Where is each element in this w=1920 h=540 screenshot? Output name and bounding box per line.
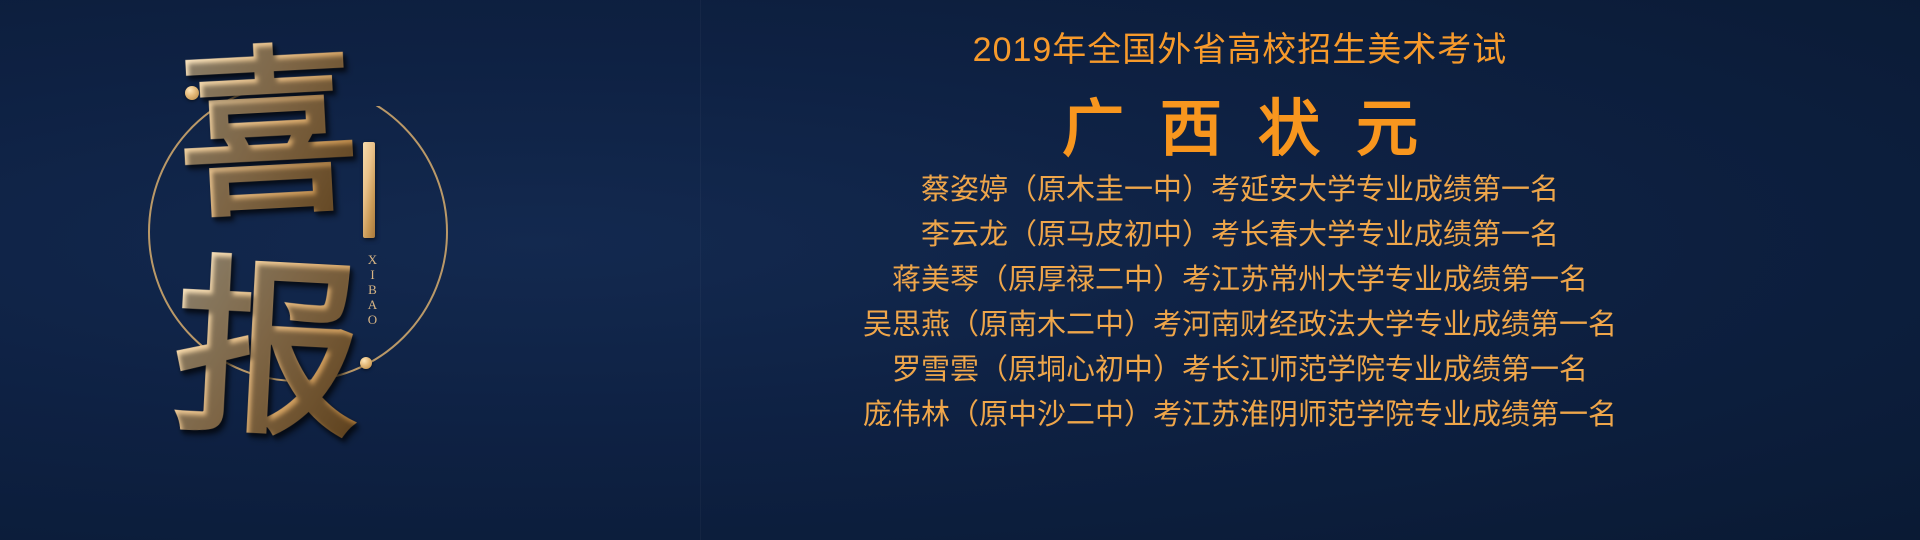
entry-result: 考延安大学专业成绩第一名: [1211, 174, 1559, 206]
entry-result: 考长春大学专业成绩第一名: [1211, 219, 1559, 251]
entry-origin-school: （原南木二中）: [950, 309, 1153, 341]
entry-origin-school: （原木圭一中）: [1008, 174, 1211, 206]
xibao-logo: XIBAO 喜 报: [120, 20, 540, 520]
entry-origin-school: （原垌心初中）: [979, 354, 1182, 386]
banner-headline: 广西状元: [600, 78, 1880, 168]
entry-result: 考江苏淮阴师范学院专业成绩第一名: [1153, 399, 1617, 431]
logo-char-xi: 喜: [163, 37, 373, 237]
entry-origin-school: （原马皮初中）: [1008, 219, 1211, 251]
entry-row: 罗雪雲（原垌心初中）考长江师范学院专业成绩第一名: [600, 348, 1880, 393]
entry-student-name: 蔡姿婷: [921, 174, 1008, 206]
entry-result: 考长江师范学院专业成绩第一名: [1182, 354, 1588, 386]
entry-list: 蔡姿婷（原木圭一中）考延安大学专业成绩第一名李云龙（原马皮初中）考长春大学专业成…: [600, 168, 1880, 438]
entry-row: 庞伟林（原中沙二中）考江苏淮阴师范学院专业成绩第一名: [600, 393, 1880, 438]
entry-student-name: 蒋美琴: [892, 264, 979, 296]
entry-student-name: 庞伟林: [863, 399, 950, 431]
entry-student-name: 罗雪雲: [892, 354, 979, 386]
entry-row: 吴思燕（原南木二中）考河南财经政法大学专业成绩第一名: [600, 303, 1880, 348]
logo-char-bao: 报: [163, 249, 373, 457]
congratulations-banner: XIBAO 喜 报 2019年全国外省高校招生美术考试 广西状元 蔡姿婷（原木圭…: [0, 0, 1920, 540]
entry-student-name: 李云龙: [921, 219, 1008, 251]
entry-result: 考江苏常州大学专业成绩第一名: [1182, 264, 1588, 296]
entry-row: 蒋美琴（原厚禄二中）考江苏常州大学专业成绩第一名: [600, 258, 1880, 303]
entry-student-name: 吴思燕: [863, 309, 950, 341]
entry-row: 蔡姿婷（原木圭一中）考延安大学专业成绩第一名: [600, 168, 1880, 213]
entry-origin-school: （原厚禄二中）: [979, 264, 1182, 296]
entry-row: 李云龙（原马皮初中）考长春大学专业成绩第一名: [600, 213, 1880, 258]
banner-subtitle: 2019年全国外省高校招生美术考试: [600, 22, 1880, 71]
entry-origin-school: （原中沙二中）: [950, 399, 1153, 431]
logo-characters: 喜 报: [168, 36, 368, 506]
entry-result: 考河南财经政法大学专业成绩第一名: [1153, 309, 1617, 341]
content-block: 2019年全国外省高校招生美术考试 广西状元 蔡姿婷（原木圭一中）考延安大学专业…: [600, 0, 1920, 540]
